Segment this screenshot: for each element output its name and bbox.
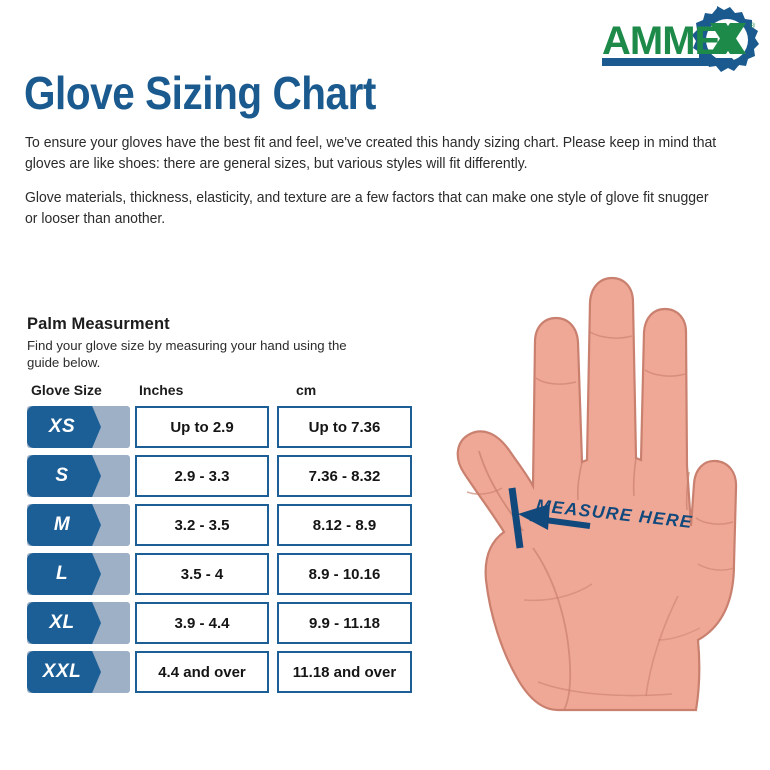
table-row: M 3.2 - 3.5 8.12 - 8.9 xyxy=(27,501,387,548)
size-badge: XS xyxy=(27,406,130,448)
cell-inches: Up to 2.9 xyxy=(135,406,269,448)
cell-inches: 3.5 - 4 xyxy=(135,553,269,595)
sizing-chart-page: AMME ® Glove Sizing Chart To ensure your… xyxy=(0,0,770,770)
size-badge: S xyxy=(27,455,130,497)
column-header-inches: Inches xyxy=(139,382,183,398)
page-title: Glove Sizing Chart xyxy=(24,66,376,120)
trademark-mark: ® xyxy=(750,22,756,30)
table-row: XXL 4.4 and over 11.18 and over xyxy=(27,648,387,695)
palm-measurement-heading: Palm Measurment xyxy=(27,315,170,334)
palm-measurement-subtext: Find your glove size by measuring your h… xyxy=(27,337,372,371)
size-badge: M xyxy=(27,504,130,546)
cell-inches: 3.2 - 3.5 xyxy=(135,504,269,546)
cell-inches: 2.9 - 3.3 xyxy=(135,455,269,497)
ammex-logo-svg: AMME ® xyxy=(600,6,765,74)
hand-illustration-svg xyxy=(378,196,770,770)
ammex-logo: AMME ® xyxy=(600,6,765,74)
size-badge: L xyxy=(27,553,130,595)
table-row: L 3.5 - 4 8.9 - 10.16 xyxy=(27,550,387,597)
size-label: XXL xyxy=(27,651,97,693)
size-badge: XL xyxy=(27,602,130,644)
hand-shape xyxy=(458,278,736,710)
ammex-wordmark: AMME xyxy=(602,19,721,63)
column-header-cm: cm xyxy=(296,382,316,398)
cell-inches: 4.4 and over xyxy=(135,651,269,693)
table-row: XL 3.9 - 4.4 9.9 - 11.18 xyxy=(27,599,387,646)
column-header-glove-size: Glove Size xyxy=(31,382,102,398)
sizing-table: Glove Size Inches cm XS Up to 2.9 Up to … xyxy=(27,382,387,697)
size-label: M xyxy=(27,504,97,546)
logo-underline-bar xyxy=(602,58,739,66)
table-header-row: Glove Size Inches cm xyxy=(27,382,387,403)
table-row: XS Up to 2.9 Up to 7.36 xyxy=(27,403,387,450)
size-label: L xyxy=(27,553,97,595)
size-label: S xyxy=(27,455,97,497)
size-label: XS xyxy=(27,406,97,448)
size-label: XL xyxy=(27,602,97,644)
size-badge: XXL xyxy=(27,651,130,693)
table-row: S 2.9 - 3.3 7.36 - 8.32 xyxy=(27,452,387,499)
intro-paragraph-1: To ensure your gloves have the best fit … xyxy=(25,133,723,175)
hand-illustration xyxy=(378,196,770,770)
cell-inches: 3.9 - 4.4 xyxy=(135,602,269,644)
